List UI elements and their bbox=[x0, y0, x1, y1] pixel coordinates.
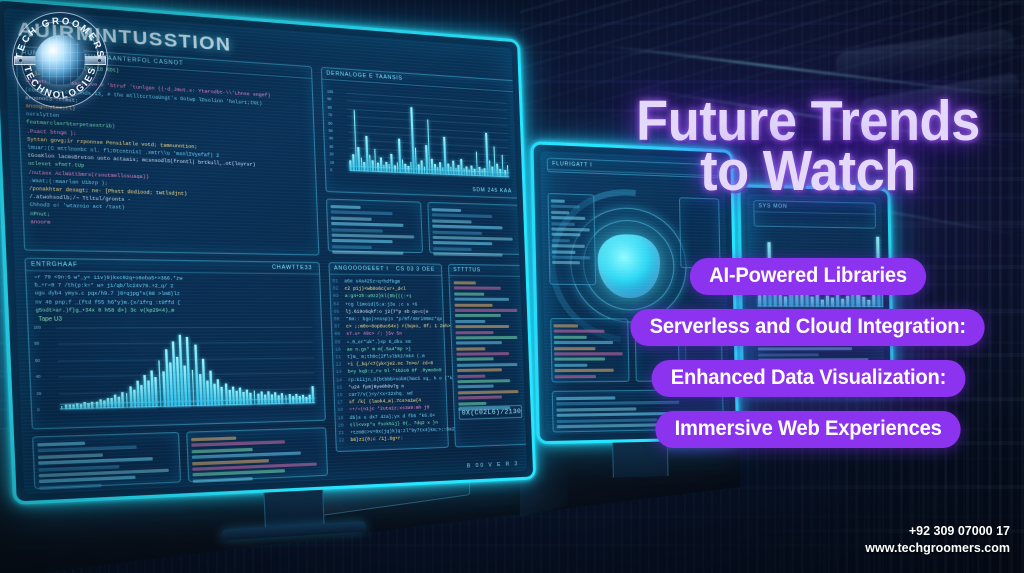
chart-bar bbox=[391, 153, 393, 172]
top-chart-footer-label: SDM 245 KAA bbox=[468, 185, 516, 197]
data-row bbox=[193, 477, 253, 483]
data-row bbox=[432, 219, 471, 223]
data-row bbox=[192, 452, 301, 459]
data-row bbox=[454, 292, 485, 295]
chart-bar bbox=[452, 161, 454, 175]
mini-panel-b-rows bbox=[432, 208, 518, 259]
histogram-panel-tab[interactable]: CHAWTTE33 bbox=[267, 262, 317, 273]
chart-bar bbox=[129, 387, 132, 408]
data-row bbox=[555, 374, 596, 377]
third-header-label: SYS MON bbox=[754, 201, 875, 215]
data-row bbox=[432, 225, 502, 230]
data-row bbox=[456, 336, 518, 339]
chart-bar bbox=[122, 392, 125, 408]
chart-y-tick: 40 bbox=[329, 137, 333, 141]
mini-panel-a-rows bbox=[330, 205, 419, 258]
data-row bbox=[551, 199, 565, 203]
secondary-code-panel[interactable]: ANGOOOOEEET i CS 03 3 OEE a6e s4a425z=q+… bbox=[328, 262, 449, 452]
code-line: 11 bbox=[335, 354, 346, 362]
chart-bar bbox=[209, 371, 213, 406]
chart-bar bbox=[224, 383, 227, 405]
chart-y-tick: 90 bbox=[327, 97, 331, 101]
data-row bbox=[455, 309, 517, 312]
code-line: a:g4+2h:u9z2}kl{9b{((:+1 bbox=[345, 293, 440, 301]
feature-pill-3[interactable]: Enhanced Data Visualization: bbox=[651, 360, 965, 397]
chart-bar bbox=[158, 361, 162, 407]
code-line: 12 bbox=[336, 362, 347, 370]
chart-y-tick: 60 bbox=[328, 121, 332, 125]
data-row bbox=[432, 208, 461, 212]
data-row bbox=[38, 446, 137, 453]
data-row bbox=[457, 379, 510, 383]
chart-bar bbox=[374, 149, 377, 172]
feature-pill-4[interactable]: Immersive Web Experiences bbox=[655, 411, 961, 448]
third-header-panel: SYS MON bbox=[753, 200, 876, 229]
chart-bar bbox=[147, 381, 150, 407]
chart-gridline bbox=[58, 357, 314, 361]
data-row bbox=[554, 363, 587, 366]
lower-mid-mini-rows bbox=[191, 434, 324, 486]
code-line: lj.6i9o6qkf:o j2{7*p sb qo=c(e bbox=[345, 308, 439, 316]
data-row bbox=[554, 347, 596, 350]
data-row bbox=[331, 216, 372, 220]
logo-bottom-arc-text: TECHNOLOGIES bbox=[21, 65, 99, 101]
log-panel[interactable]: STTTTUS 0X(C02L6)/2130 bbox=[448, 264, 527, 448]
code-line: 07 bbox=[334, 324, 345, 332]
code-line: nv 48 pnp;f _(ftd f55 h6*y)m.{x/ifrg :t9… bbox=[35, 298, 316, 307]
feature-pill-list: AI-Powered LibrariesServerless and Cloud… bbox=[596, 258, 1020, 462]
data-row bbox=[457, 363, 518, 367]
data-row bbox=[552, 255, 590, 259]
data-row bbox=[551, 216, 585, 220]
data-row bbox=[551, 222, 575, 226]
chart-bar bbox=[206, 381, 209, 406]
chart-bar bbox=[398, 139, 401, 173]
data-row bbox=[433, 247, 471, 251]
chart-bar bbox=[501, 155, 503, 177]
chart-bar bbox=[202, 359, 206, 406]
chart-y-tick: 0 bbox=[37, 408, 40, 413]
lower-left-mini-rows bbox=[37, 439, 176, 493]
log-panel-counter: 0X(C02L6)/2130 bbox=[458, 405, 522, 420]
data-row bbox=[551, 227, 589, 231]
code-line: 03 bbox=[333, 293, 344, 301]
data-row bbox=[330, 205, 360, 209]
top-chart-panel[interactable]: DERNALOGE E TAANSIS 10090807060504030201… bbox=[321, 67, 519, 199]
data-row bbox=[455, 314, 501, 317]
data-row bbox=[332, 234, 415, 239]
poster-canvas: SYS MON FLURIGATT i bbox=[0, 0, 1024, 573]
data-row bbox=[457, 358, 494, 362]
chart-y-tick: 40 bbox=[36, 375, 41, 380]
data-row bbox=[191, 437, 237, 442]
chart-y-tick: 20 bbox=[329, 152, 333, 156]
data-row bbox=[38, 453, 102, 459]
contact-block: +92 309 07000 17 www.techgroomers.com bbox=[865, 523, 1010, 557]
data-row bbox=[552, 261, 580, 265]
data-row bbox=[39, 476, 136, 484]
chart-y-tick: 100 bbox=[327, 90, 333, 95]
chart-y-tick: 70 bbox=[328, 113, 332, 117]
logo-arc-text: TECH GROOMERS TECHNOLOGIES bbox=[8, 8, 112, 112]
data-row bbox=[332, 245, 372, 249]
data-row bbox=[433, 241, 492, 245]
data-row bbox=[552, 244, 585, 248]
chart-bar bbox=[444, 137, 447, 175]
chart-gridline bbox=[57, 342, 313, 345]
data-row bbox=[432, 214, 492, 219]
code-line: 04 bbox=[333, 301, 344, 309]
chart-bar bbox=[217, 379, 220, 406]
chart-bar bbox=[476, 152, 479, 176]
chart-y-tick: 60 bbox=[35, 358, 40, 363]
data-row bbox=[553, 324, 578, 327]
histogram-panel[interactable]: ENTRGHAAF CHAWTTE33 =r 79 <9n:6 w*_y< 1i… bbox=[24, 258, 326, 430]
top-bar-chart-plot bbox=[347, 93, 510, 178]
feature-pill-2[interactable]: Serverless and Cloud Integration: bbox=[631, 309, 986, 346]
chart-y-tick: 10 bbox=[330, 160, 334, 164]
log-panel-title: STTTTUS bbox=[449, 265, 521, 277]
code-line: 08 bbox=[334, 331, 345, 339]
data-row bbox=[455, 303, 493, 306]
chart-bar bbox=[214, 384, 217, 406]
chart-gridline bbox=[57, 327, 313, 329]
chart-y-tick: 20 bbox=[36, 391, 41, 396]
data-row bbox=[456, 352, 509, 356]
contact-website[interactable]: www.techgroomers.com bbox=[865, 540, 1010, 557]
data-row bbox=[454, 287, 501, 290]
brand-logo[interactable]: TECH GROOMERS TECHNOLOGIES bbox=[8, 8, 112, 112]
code-line: 22 bbox=[339, 437, 350, 445]
data-row bbox=[39, 483, 102, 489]
histogram-chart bbox=[57, 327, 316, 410]
data-row bbox=[454, 298, 509, 301]
page-title: Future Trends to Watch bbox=[617, 96, 1000, 196]
data-row bbox=[331, 228, 382, 232]
data-row bbox=[456, 331, 494, 334]
code-line: g5odt>ar.)f}g_+34x 0 h58 d>) 3c v(kp29<4… bbox=[35, 307, 316, 315]
data-row bbox=[455, 320, 485, 323]
data-row bbox=[433, 252, 502, 256]
data-row bbox=[456, 347, 485, 350]
data-row bbox=[457, 369, 502, 373]
data-row bbox=[552, 239, 570, 243]
data-row bbox=[331, 222, 403, 227]
data-row bbox=[458, 390, 518, 394]
data-row bbox=[552, 250, 575, 254]
logo-top-arc-text: TECH GROOMERS bbox=[14, 16, 106, 60]
secondary-code-content: a6e s4a425z=q+hdfkgm c2 p1j)<wb8o6c(xr+_… bbox=[344, 278, 444, 445]
chart-bar bbox=[380, 157, 382, 172]
code-line: 09 bbox=[335, 339, 346, 347]
code-line: 05 bbox=[333, 308, 344, 316]
top-bar-chart bbox=[347, 93, 510, 178]
data-row bbox=[456, 341, 501, 344]
chart-bar bbox=[369, 155, 371, 171]
code-line: +cg l1moid(5;a:j3u ;c s +6 bbox=[345, 301, 439, 309]
data-row bbox=[458, 401, 486, 405]
data-row bbox=[455, 325, 509, 328]
code-line: 06 bbox=[334, 316, 345, 324]
data-row bbox=[433, 236, 513, 241]
secondary-code-tab[interactable]: CS 03 3 OEE bbox=[392, 264, 440, 275]
chart-y-tick: 0 bbox=[330, 168, 332, 172]
data-row bbox=[551, 211, 570, 215]
chart-bar bbox=[246, 389, 249, 405]
data-row bbox=[551, 205, 580, 209]
log-panel-rows bbox=[454, 281, 524, 413]
data-row bbox=[38, 457, 153, 465]
data-row bbox=[332, 251, 403, 255]
data-row bbox=[332, 239, 393, 243]
histogram-chart-plot bbox=[57, 327, 316, 410]
contact-phone[interactable]: +92 309 07000 17 bbox=[865, 523, 1010, 540]
chart-y-tick: 50 bbox=[329, 129, 333, 133]
chart-y-tick: 80 bbox=[328, 105, 332, 109]
data-row bbox=[554, 336, 587, 339]
feature-pill-1[interactable]: AI-Powered Libraries bbox=[690, 258, 926, 295]
chart-y-tick: 80 bbox=[34, 342, 39, 347]
data-row bbox=[454, 281, 477, 284]
data-row bbox=[457, 374, 485, 378]
data-row bbox=[432, 230, 481, 234]
chart-y-tick: 30 bbox=[329, 144, 333, 148]
histogram-panel-code: =r 79 <9n:6 w*_y< 1iv)9)kxc92q+o6eba5+>3… bbox=[34, 274, 316, 315]
chart-bar bbox=[431, 159, 433, 174]
chart-y-tick: 100 bbox=[34, 325, 41, 330]
data-row bbox=[193, 470, 286, 477]
main-status-bar: B 00 V E R 3 bbox=[467, 461, 519, 469]
data-row bbox=[458, 385, 494, 389]
top-chart-title: DERNALOGE E TAANSIS bbox=[322, 68, 514, 92]
data-row bbox=[191, 441, 285, 448]
data-row bbox=[192, 448, 254, 454]
code-line: 01 bbox=[332, 278, 343, 286]
code-line: 10 bbox=[335, 346, 346, 354]
headline-line-2: to Watch bbox=[617, 146, 1000, 196]
data-row bbox=[331, 211, 393, 216]
code-line: 13 bbox=[336, 369, 347, 377]
chart-bar bbox=[228, 390, 231, 406]
data-row bbox=[458, 396, 502, 400]
data-row bbox=[552, 233, 580, 237]
data-row bbox=[37, 442, 85, 447]
code-line: 02 bbox=[333, 286, 344, 294]
histogram-chart-label: Tape U3 bbox=[38, 316, 62, 323]
chart-bar bbox=[140, 385, 143, 407]
second-left-row-list bbox=[551, 199, 593, 267]
